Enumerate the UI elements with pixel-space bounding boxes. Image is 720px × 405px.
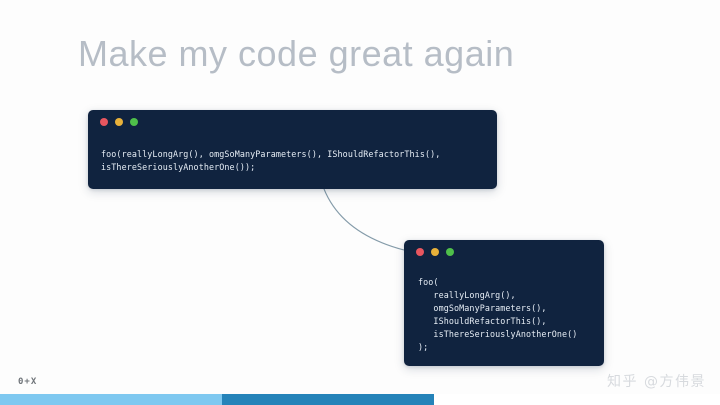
progress-bar[interactable] bbox=[0, 394, 720, 405]
code-text-before: foo(reallyLongArg(), omgSoManyParameters… bbox=[88, 134, 497, 183]
maximize-dot-icon[interactable] bbox=[130, 118, 138, 126]
minimize-dot-icon[interactable] bbox=[431, 248, 439, 256]
minimize-dot-icon[interactable] bbox=[115, 118, 123, 126]
window-titlebar-after bbox=[404, 240, 454, 264]
watermark: 知乎 @方伟景 bbox=[607, 371, 706, 391]
close-dot-icon[interactable] bbox=[100, 118, 108, 126]
footer-logo: 0+X bbox=[18, 377, 37, 387]
window-titlebar-before bbox=[88, 110, 138, 134]
maximize-dot-icon[interactable] bbox=[446, 248, 454, 256]
code-text-after: foo( reallyLongArg(), omgSoManyParameter… bbox=[404, 264, 604, 364]
progress-segment-light bbox=[0, 394, 222, 405]
page-title: Make my code great again bbox=[78, 33, 514, 75]
close-dot-icon[interactable] bbox=[416, 248, 424, 256]
code-window-before: foo(reallyLongArg(), omgSoManyParameters… bbox=[88, 110, 497, 189]
slide-canvas: Make my code great again foo(reallyLongA… bbox=[0, 0, 720, 405]
progress-segment-dark bbox=[222, 394, 434, 405]
code-window-after: foo( reallyLongArg(), omgSoManyParameter… bbox=[404, 240, 604, 366]
